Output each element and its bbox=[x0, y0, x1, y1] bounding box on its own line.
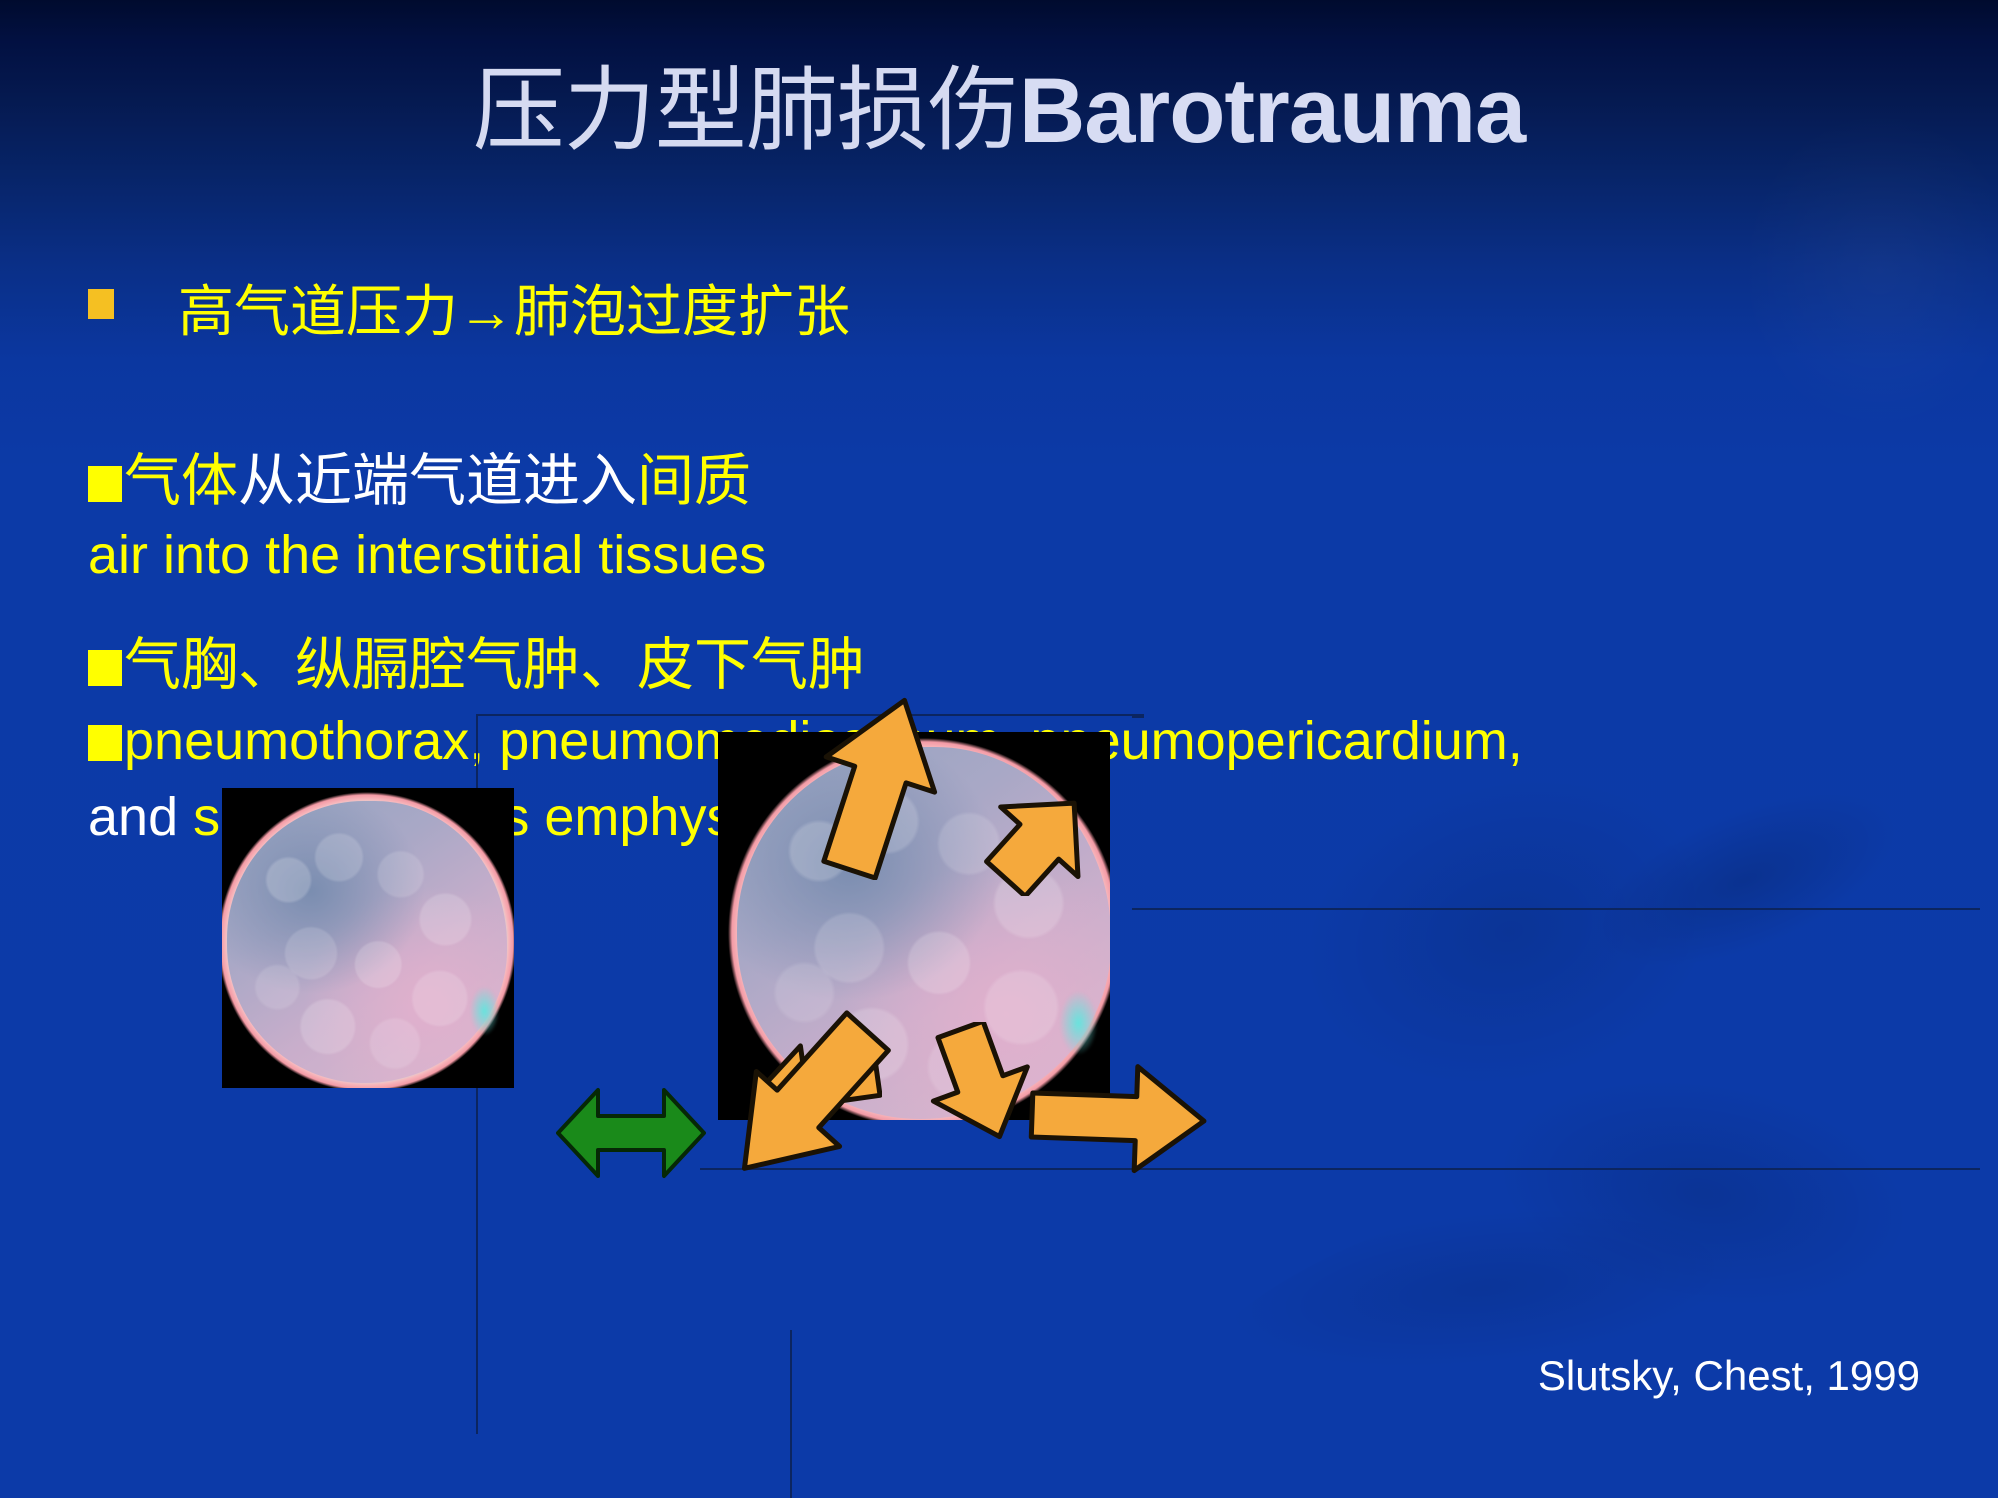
orange-arrow-up-left-icon bbox=[812, 690, 942, 880]
bullet-item-3-text: air into the interstitial tissues bbox=[88, 525, 766, 585]
frame-line-vertical-bottom bbox=[790, 1330, 792, 1498]
bullet-item-1: 高气道压力→肺泡过度扩张 bbox=[88, 284, 850, 340]
slide-title: 压力型肺损伤Barotrauma bbox=[0, 62, 1998, 161]
slide-title-english: Barotrauma bbox=[1019, 60, 1525, 162]
bullet-item-2: 气体从近端气道进入间质 bbox=[88, 452, 751, 510]
frame-line-horizontal-mid bbox=[1132, 908, 1980, 910]
square-bullet-icon bbox=[88, 466, 122, 502]
bullet-item-4-text: 气胸、纵膈腔气肿、皮下气肿 bbox=[124, 633, 865, 697]
bullet-item-2-seg-3: 间质 bbox=[637, 449, 751, 513]
square-bullet-icon bbox=[88, 725, 122, 761]
background-swirl-4 bbox=[1135, 1136, 1998, 1498]
orange-arrow-down-right-icon bbox=[920, 1022, 1040, 1144]
bullet-item-2-seg-1: 气体 bbox=[124, 449, 238, 513]
alveolus-cyan-patch bbox=[465, 978, 504, 1044]
bullet-item-4: 气胸、纵膈腔气肿、皮下气肿 bbox=[88, 636, 865, 694]
frame-line-horizontal-top bbox=[476, 714, 1144, 716]
frame-line-horizontal-top-right bbox=[1132, 716, 1144, 718]
square-bullet-icon bbox=[88, 650, 122, 686]
alveolus-texture bbox=[227, 801, 507, 1083]
orange-arrow-right-icon bbox=[1028, 1060, 1208, 1176]
green-double-arrow-icon bbox=[556, 1068, 706, 1198]
bullet-item-6-seg-1: and bbox=[88, 787, 193, 847]
citation-text: Slutsky, Chest, 1999 bbox=[1180, 1352, 1920, 1400]
bullet-item-2-seg-2: 从近端气道进入 bbox=[238, 449, 637, 513]
slide-canvas: 压力型肺损伤Barotrauma 高气道压力→肺泡过度扩张 气体从近端气道进入间… bbox=[0, 0, 1998, 1498]
alveolus-cell bbox=[222, 792, 514, 1088]
normal-alveolus-image bbox=[222, 788, 514, 1088]
orange-arrow-down-left-icon bbox=[716, 1002, 896, 1198]
alveolus-cyan-patch bbox=[1053, 980, 1104, 1066]
bullet-item-1-text: 高气道压力→肺泡过度扩张 bbox=[178, 280, 850, 343]
square-bullet-icon bbox=[88, 289, 114, 319]
slide-title-chinese: 压力型肺损伤 bbox=[473, 60, 1019, 162]
background-swirl-2 bbox=[1512, 716, 1978, 1044]
bullet-item-3: air into the interstitial tissues bbox=[88, 528, 766, 583]
orange-arrow-up-right-icon bbox=[980, 786, 1100, 896]
